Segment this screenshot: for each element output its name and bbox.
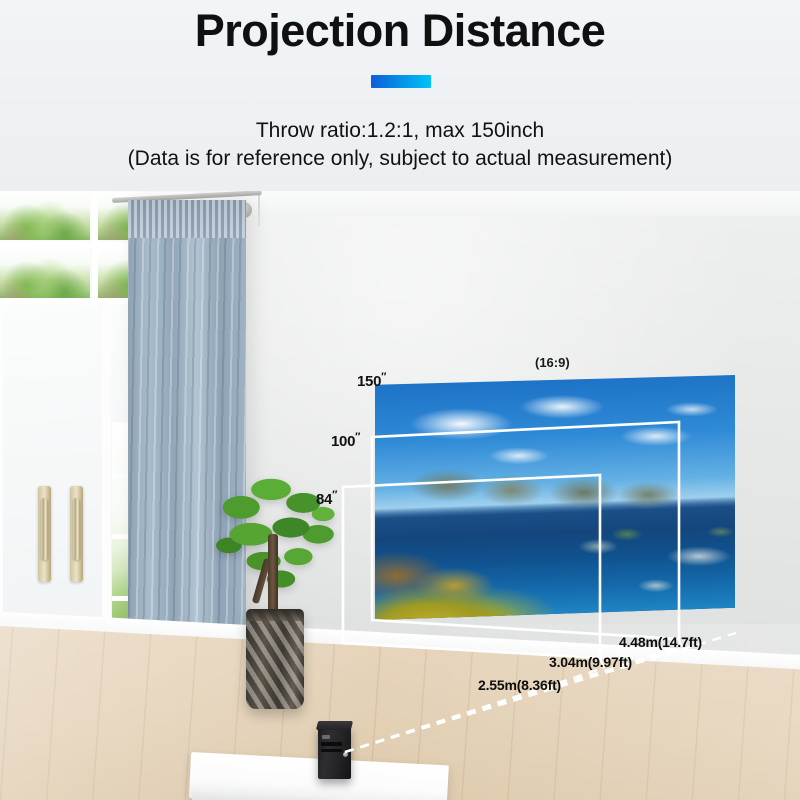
plant-pot-rim: [246, 609, 304, 621]
projector-vent: [321, 749, 342, 752]
page-header: Projection Distance Throw ratio:1.2:1, m…: [0, 0, 800, 191]
projector-logo: [322, 735, 330, 739]
plant-trunk: [268, 534, 278, 616]
subtitle-line-2: (Data is for reference only, subject to …: [0, 145, 800, 173]
page-title: Projection Distance: [0, 2, 800, 60]
projector-top: [316, 721, 353, 730]
accent-bar: [371, 75, 431, 88]
projector-light-rays: [330, 786, 630, 800]
room-photo: [0, 186, 800, 800]
subtitle-line-1: Throw ratio:1.2:1, max 150inch: [0, 117, 800, 145]
projector-lens-icon: [343, 752, 348, 757]
plant-pot: [246, 609, 304, 709]
projection-distance-page: 150″ 100″ 84″ (16:9) 4.48m(14.7ft) 3.04m…: [0, 0, 800, 800]
projector-vent: [321, 742, 342, 746]
